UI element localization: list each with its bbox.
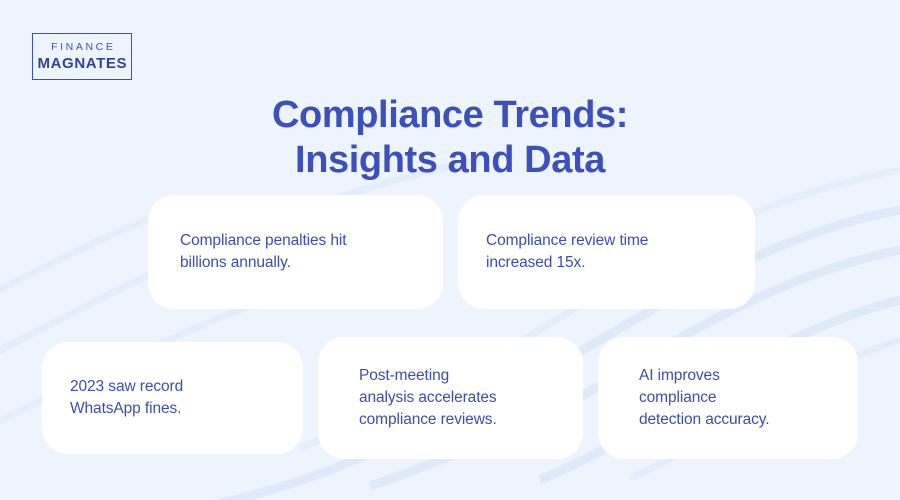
insight-card-text: Post-meeting analysis accelerates compli…	[359, 365, 497, 431]
insight-card-line: 2023 saw record	[70, 376, 183, 398]
page-title-line-1: Compliance Trends:	[150, 93, 750, 138]
insight-card-text: Compliance review time increased 15x.	[486, 230, 648, 274]
insight-card-text: Compliance penalties hit billions annual…	[180, 230, 346, 274]
insight-card-line: WhatsApp fines.	[70, 398, 183, 420]
insight-card-whatsapp[interactable]: 2023 saw record WhatsApp fines.	[42, 342, 303, 454]
insight-card-line: billions annually.	[180, 252, 346, 274]
insight-card-line: compliance	[639, 387, 770, 409]
insight-card-line: analysis accelerates	[359, 387, 497, 409]
insight-card-line: increased 15x.	[486, 252, 648, 274]
insight-card-text: AI improves compliance detection accurac…	[639, 365, 770, 431]
page-title: Compliance Trends: Insights and Data	[150, 93, 750, 183]
slide-canvas: FINANCE MAGNATES Compliance Trends: Insi…	[0, 0, 900, 500]
insight-card-line: compliance reviews.	[359, 409, 497, 431]
insight-card-text: 2023 saw record WhatsApp fines.	[70, 376, 183, 420]
insight-card-review-time[interactable]: Compliance review time increased 15x.	[458, 195, 755, 309]
finance-magnates-logo: FINANCE MAGNATES	[32, 33, 132, 80]
insight-card-line: Post-meeting	[359, 365, 497, 387]
insight-card-penalties[interactable]: Compliance penalties hit billions annual…	[148, 195, 443, 309]
insight-card-line: detection accuracy.	[639, 409, 770, 431]
insight-card-ai-detection[interactable]: AI improves compliance detection accurac…	[598, 337, 858, 459]
logo-bottom-text: MAGNATES	[37, 56, 127, 71]
insight-card-line: Compliance penalties hit	[180, 230, 346, 252]
insight-card-line: Compliance review time	[486, 230, 648, 252]
logo-top-text: FINANCE	[49, 42, 116, 53]
insight-card-post-meeting[interactable]: Post-meeting analysis accelerates compli…	[318, 337, 583, 459]
insight-card-line: AI improves	[639, 365, 770, 387]
page-title-line-2: Insights and Data	[150, 138, 750, 183]
